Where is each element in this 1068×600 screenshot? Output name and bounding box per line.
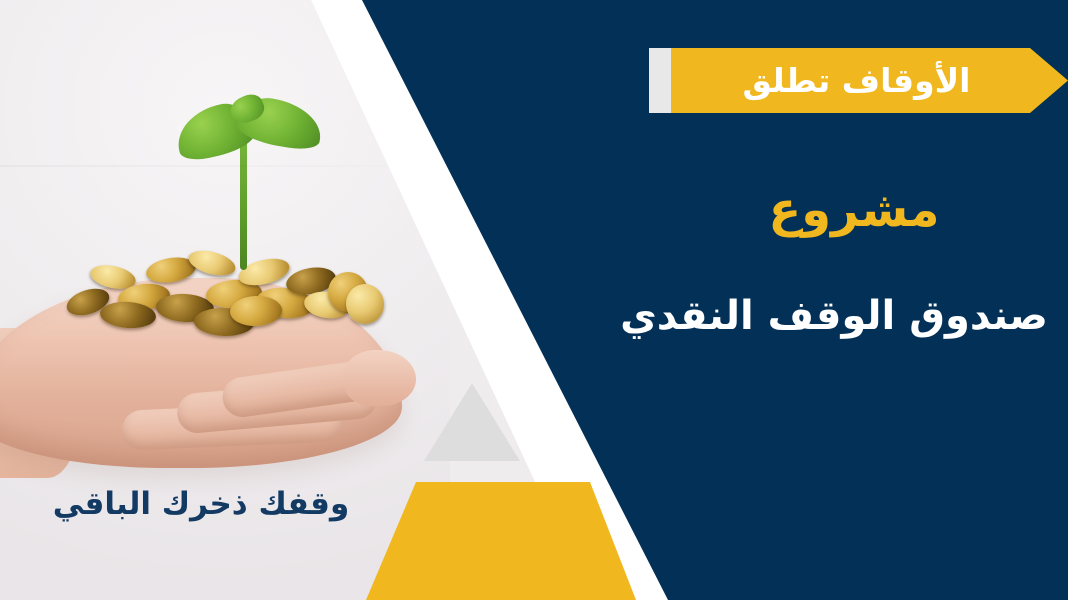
banner-left-tab	[649, 48, 671, 113]
headline-kicker-wrap: مشروع	[640, 186, 1068, 234]
headline-title-wrap: صندوق الوقف النقدي	[600, 296, 1068, 336]
banner-title: الأوقاف تطلق	[743, 64, 997, 97]
top-banner: الأوقاف تطلق	[649, 48, 1068, 113]
fingertip-shape	[344, 350, 416, 406]
tagline-text: وقفك ذخرك الباقي	[36, 489, 366, 520]
headline-title: صندوق الوقف النقدي	[600, 296, 1068, 336]
banner-body: الأوقاف تطلق	[671, 48, 1068, 113]
green-seedling	[176, 100, 326, 260]
headline-kicker: مشروع	[640, 186, 1068, 234]
tagline-wrap: وقفك ذخرك الباقي	[36, 489, 366, 520]
poster-canvas: الأوقاف تطلق مشروع صندوق الوقف النقدي وق…	[0, 0, 1068, 600]
